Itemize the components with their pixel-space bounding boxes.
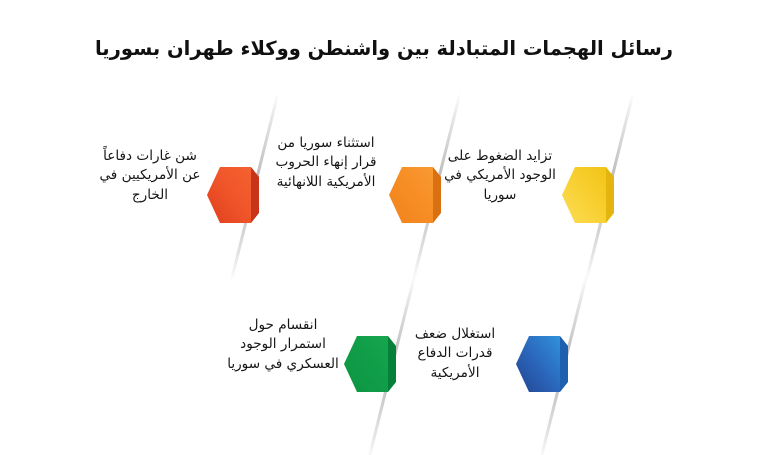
hexagon-icon (516, 336, 568, 392)
hexagon-icon (389, 167, 441, 223)
node-2-label: استثناء سوريا من قرار إنهاء الحروب الأمر… (267, 134, 385, 192)
hexagon-icon (562, 167, 614, 223)
node-4-label: انقسام حول استمرار الوجود العسكري في سور… (224, 316, 342, 374)
node-3-label: تزايد الضغوط على الوجود الأمريكي في سوري… (441, 147, 559, 205)
infographic-canvas: رسائل الهجمات المتبادلة بين واشنطن ووكلا… (0, 0, 768, 455)
hexagon-icon (207, 167, 259, 223)
node-1-label: شن غارات دفاعاً عن الأمريكيين في الخارج (94, 147, 206, 205)
hexagon-icon (344, 336, 396, 392)
node-5-label: استغلال ضعف قدرات الدفاع الأمريكية (396, 325, 514, 383)
page-title: رسائل الهجمات المتبادلة بين واشنطن ووكلا… (0, 36, 768, 62)
